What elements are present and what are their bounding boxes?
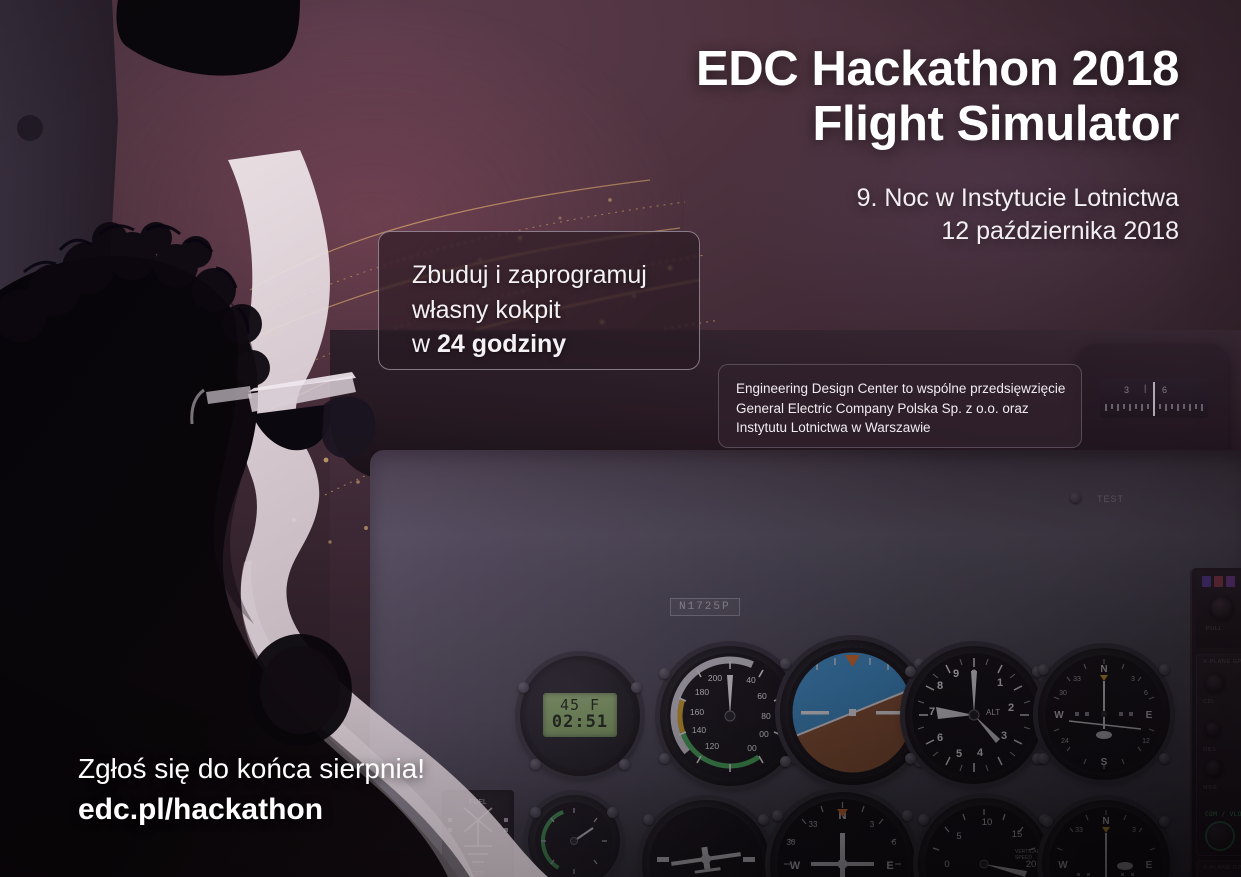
call-to-action: Zgłoś się do końca sierpnia! edc.pl/hack…: [78, 752, 425, 829]
altimeter-gauge: 012 345 678 9 ALT: [905, 646, 1043, 784]
avionics-stack: PULL X-PLANE GPS 118.20 121.90 118.20 11…: [1190, 568, 1241, 877]
vor-cardinal-s: S: [1101, 757, 1108, 768]
poster-subheadline: 9. Noc w Instytucie Lotnictwa 12 paździe…: [857, 182, 1179, 248]
svg-text:15: 15: [1012, 829, 1023, 840]
svg-text:33: 33: [1075, 827, 1083, 834]
svg-text:6: 6: [892, 838, 897, 847]
svg-text:2: 2: [1008, 702, 1014, 714]
svg-text:8: 8: [937, 680, 943, 692]
svg-text:6: 6: [1144, 690, 1148, 697]
subhead-line-2: 12 października 2018: [857, 215, 1179, 248]
compass-mark-3: 3: [1124, 385, 1129, 395]
subhead-line-1: 9. Noc w Instytucie Lotnictwa: [857, 182, 1179, 215]
tagline-box: Zbuduj i zaprogramuj własny kokpit w 24 …: [378, 231, 700, 370]
compass-mark-6: 6: [1162, 385, 1167, 395]
svg-text:12: 12: [1142, 738, 1150, 745]
svg-text:4: 4: [977, 747, 984, 759]
svg-text:60: 60: [757, 691, 767, 701]
pilot-silhouette: [0, 0, 700, 877]
com-vloc-label: COM / VLOC: [1205, 811, 1241, 818]
attitude-indicator-gauge: [780, 640, 925, 785]
svg-text:6: 6: [937, 732, 943, 744]
info-line-3: Instytutu Lotnictwa w Warszawie: [736, 418, 1081, 438]
info-line-1: Engineering Design Center to wspólne prz…: [736, 379, 1081, 399]
svg-text:10: 10: [982, 817, 993, 828]
svg-text:N: N: [839, 810, 847, 822]
vor-gauge-2: NE SW 333 1224: [1042, 800, 1170, 877]
vor-cardinal-w: W: [1054, 710, 1064, 721]
svg-text:3: 3: [1132, 827, 1136, 834]
svg-text:W: W: [1058, 860, 1068, 871]
svg-text:5: 5: [956, 748, 962, 760]
svg-text:0: 0: [971, 668, 977, 680]
info-box: Engineering Design Center to wspólne prz…: [718, 364, 1082, 448]
svg-text:80: 80: [761, 711, 771, 721]
svg-text:7: 7: [929, 706, 935, 718]
svg-text:5: 5: [956, 831, 961, 842]
svg-text:E: E: [1146, 860, 1153, 871]
tagline-line-2: własny kokpit: [412, 293, 699, 328]
tagline-line-1: Zbuduj i zaprogramuj: [412, 258, 699, 293]
tagline-line-3-prefix: w: [412, 330, 437, 358]
svg-text:1: 1: [997, 677, 1003, 689]
gps-unit-1[interactable]: X-PLANE GPS 118.20 121.90 118.20 113.00 …: [1196, 654, 1241, 856]
svg-text:30: 30: [787, 838, 796, 847]
altimeter-alt-label: ALT: [986, 708, 1000, 717]
svg-text:24: 24: [1061, 738, 1069, 745]
heading-indicator-gauge: NE SW 333 630 1224 1521: [770, 792, 915, 877]
svg-text:|: |: [1144, 383, 1146, 393]
vor-gauge-1: N E S W 333 1224 630: [1038, 648, 1170, 780]
svg-text:200: 200: [708, 673, 722, 683]
vor-cardinal-n: N: [1100, 664, 1107, 675]
poster-canvas: 3 | 6 N1725P 45 F: [0, 0, 1241, 877]
svg-text:3: 3: [1001, 730, 1007, 742]
svg-text:9: 9: [953, 668, 959, 680]
headline-line-2: Flight Simulator: [696, 97, 1179, 152]
poster-headline: EDC Hackathon 2018 Flight Simulator: [696, 42, 1179, 152]
vor-cardinal-e: E: [1146, 710, 1153, 721]
panel-screw: [1070, 492, 1081, 503]
vsi-label: VERTICALSPEED: [1015, 849, 1040, 861]
svg-text:33: 33: [1073, 676, 1081, 683]
headline-line-1: EDC Hackathon 2018: [696, 42, 1179, 97]
svg-text:0: 0: [944, 859, 949, 870]
cta-url[interactable]: edc.pl/hackathon: [78, 790, 425, 829]
cta-deadline-text: Zgłoś się do końca sierpnia!: [78, 752, 425, 786]
svg-text:W: W: [790, 860, 801, 872]
svg-text:120: 120: [705, 741, 719, 751]
svg-text:N: N: [1102, 816, 1109, 827]
tagline-line-3-bold: 24 godziny: [437, 330, 566, 358]
gps-unit-2[interactable]: X-PLANE GPS 119.30 122.80 COM / VLOC: [1196, 860, 1241, 877]
svg-text:3: 3: [870, 820, 875, 829]
svg-text:E: E: [886, 860, 893, 872]
info-line-2: General Electric Company Polska Sp. z o.…: [736, 399, 1081, 419]
magnetic-compass: 3 | 6: [1078, 344, 1228, 464]
svg-text:00: 00: [759, 729, 769, 739]
svg-text:00: 00: [747, 743, 757, 753]
svg-text:30: 30: [1059, 690, 1067, 697]
test-placard: TEST: [1097, 494, 1124, 504]
gps-unit-1-label: X-PLANE GPS: [1203, 659, 1241, 665]
svg-text:20: 20: [1026, 859, 1037, 870]
tagline-line-3: w 24 godziny: [412, 327, 699, 362]
vertical-speed-indicator-gauge: 05 1015 2015 105 VERTICALSPEED: [918, 798, 1050, 877]
gps-unit-2-label: X-PLANE GPS: [1203, 865, 1241, 871]
svg-text:40: 40: [746, 675, 756, 685]
svg-text:33: 33: [809, 820, 818, 829]
svg-text:3: 3: [1131, 676, 1135, 683]
transponder-unit[interactable]: PULL: [1196, 570, 1241, 648]
